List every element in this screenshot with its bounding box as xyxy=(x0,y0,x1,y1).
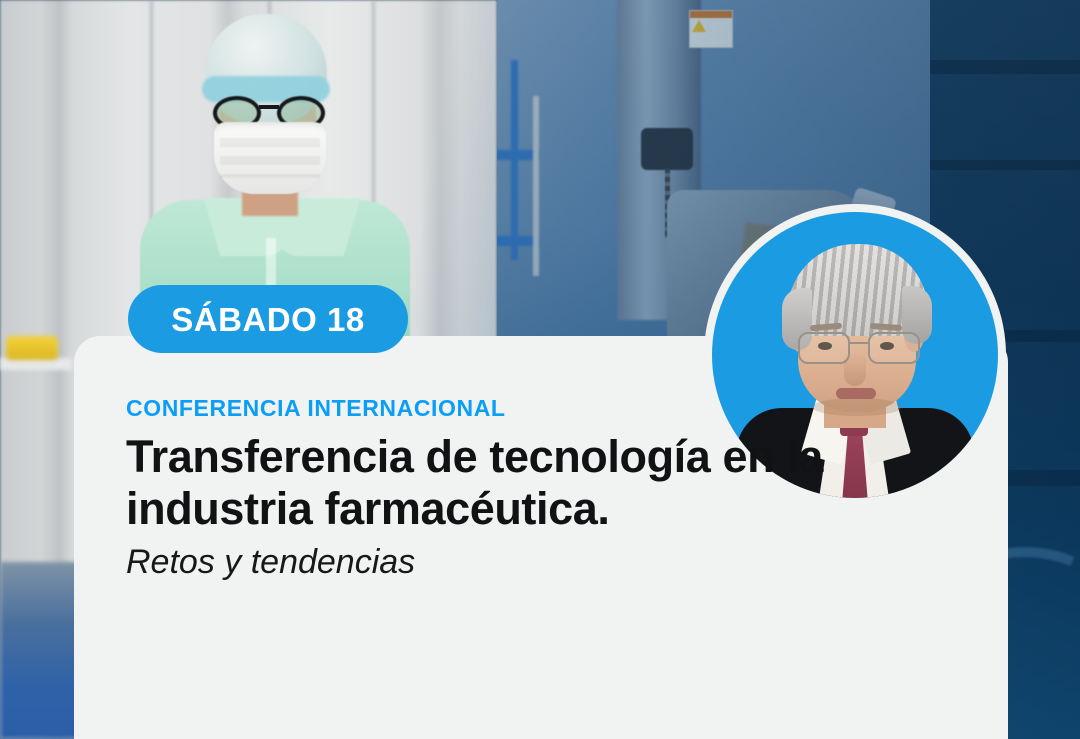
page-title: Transferencia de tecnología en la indust… xyxy=(126,431,826,535)
event-poster: SÁBADO 18 CONFERENCIA INTERNACIONAL Tran… xyxy=(0,0,1080,739)
lens-left xyxy=(798,332,850,364)
event-category-label: CONFERENCIA INTERNACIONAL xyxy=(126,396,886,421)
date-badge[interactable]: SÁBADO 18 xyxy=(128,285,408,353)
glasses-bridge xyxy=(848,342,870,344)
date-badge-label: SÁBADO 18 xyxy=(171,303,364,336)
poster-text-block: CONFERENCIA INTERNACIONAL Transferencia … xyxy=(126,396,886,582)
nose xyxy=(844,352,866,386)
lens-right xyxy=(868,332,920,364)
page-subtitle: Retos y tendencias xyxy=(126,542,886,583)
